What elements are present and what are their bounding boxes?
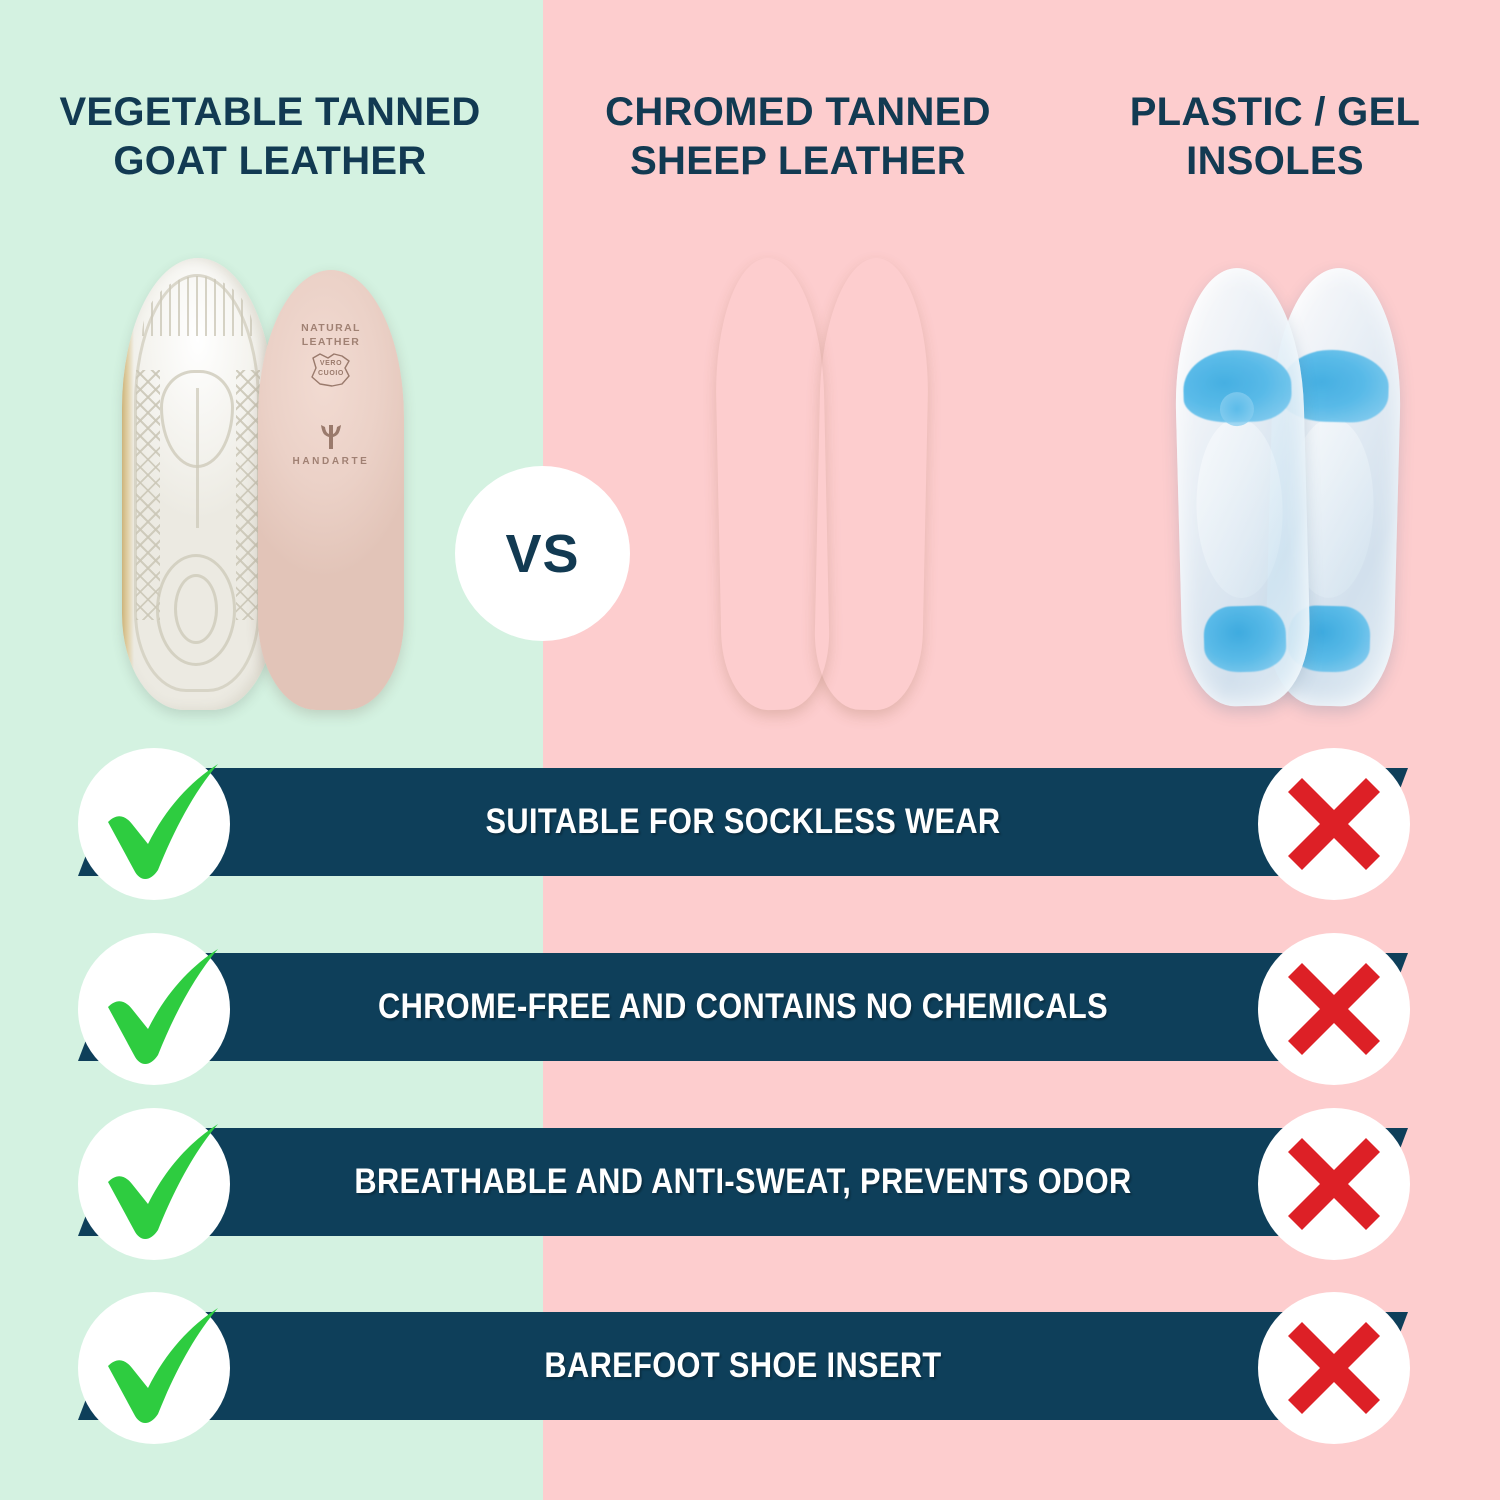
embossed-heel-oval-inner — [174, 574, 218, 644]
product-image-vegetable-tanned-goat-leather: NATURAL LEATHER VERO CUOIO HANDARTE — [110, 252, 410, 722]
heading-line-1: PLASTIC / GEL — [1065, 88, 1485, 137]
gel-arch-highlight — [1194, 417, 1285, 599]
cross-icon — [1258, 1108, 1410, 1260]
stamp-brand-handarte: HANDARTE — [258, 456, 404, 467]
feature-banner: BREATHABLE AND ANTI-SWEAT, PREVENTS ODOR — [78, 1128, 1408, 1236]
product-image-plastic-gel-insoles — [1178, 268, 1418, 718]
feature-label: BAREFOOT SHOE INSERT — [158, 1346, 1328, 1386]
check-icon — [78, 748, 230, 900]
insole-embossed-underside — [122, 258, 274, 710]
column-heading-plastic-gel: PLASTIC / GEL INSOLES — [1065, 88, 1485, 186]
heading-line-2: INSOLES — [1065, 137, 1485, 186]
cross-icon — [1258, 748, 1410, 900]
insole-natural-leather-topside: NATURAL LEATHER VERO CUOIO HANDARTE — [258, 270, 404, 710]
product-image-chromed-tanned-sheep-leather — [718, 258, 938, 718]
embossed-zigzag-right — [236, 370, 260, 620]
stamp-natural: NATURAL — [258, 322, 404, 334]
check-icon — [78, 933, 230, 1085]
vs-label: VS — [505, 523, 579, 585]
feature-row: BAREFOOT SHOE INSERT — [0, 1292, 1500, 1492]
feature-banner: BAREFOOT SHOE INSERT — [78, 1312, 1408, 1420]
embossed-center-line — [196, 388, 199, 528]
heading-line-2: SHEEP LEATHER — [548, 137, 1048, 186]
feature-label: CHROME-FREE AND CONTAINS NO CHEMICALS — [158, 987, 1328, 1027]
stamp-vero: VERO — [258, 360, 404, 367]
column-heading-chromed-tanned: CHROMED TANNED SHEEP LEATHER — [548, 88, 1048, 186]
heading-line-2: GOAT LEATHER — [10, 137, 530, 186]
feature-row: SUITABLE FOR SOCKLESS WEAR — [0, 748, 1500, 948]
feature-row: CHROME-FREE AND CONTAINS NO CHEMICALS — [0, 933, 1500, 1133]
heading-line-1: CHROMED TANNED — [548, 88, 1048, 137]
feature-label: BREATHABLE AND ANTI-SWEAT, PREVENTS ODOR — [158, 1162, 1328, 1202]
heading-line-1: VEGETABLE TANNED — [10, 88, 530, 137]
feature-label: SUITABLE FOR SOCKLESS WEAR — [158, 802, 1328, 842]
check-icon — [78, 1108, 230, 1260]
stamp-cuoio: CUOIO — [258, 370, 404, 377]
cross-icon — [1258, 933, 1410, 1085]
check-icon — [78, 1292, 230, 1444]
feature-banner: CHROME-FREE AND CONTAINS NO CHEMICALS — [78, 953, 1408, 1061]
sheep-insole-right — [813, 257, 930, 711]
comparison-infographic: VEGETABLE TANNED GOAT LEATHER CHROMED TA… — [0, 0, 1500, 1500]
cross-icon — [1258, 1292, 1410, 1444]
stamp-leather: LEATHER — [258, 336, 404, 348]
embossed-zigzag-left — [136, 370, 160, 620]
sheep-insole-left — [713, 257, 830, 711]
embossed-stitch-toe — [142, 276, 254, 336]
feature-row: BREATHABLE AND ANTI-SWEAT, PREVENTS ODOR — [0, 1108, 1500, 1308]
vs-badge: VS — [455, 466, 630, 641]
column-heading-vegetable-tanned: VEGETABLE TANNED GOAT LEATHER — [10, 88, 530, 186]
gel-insole-front — [1172, 266, 1311, 707]
handarte-logo-icon — [316, 422, 346, 452]
feature-banner: SUITABLE FOR SOCKLESS WEAR — [78, 768, 1408, 876]
gel-pad-heel — [1203, 605, 1287, 673]
